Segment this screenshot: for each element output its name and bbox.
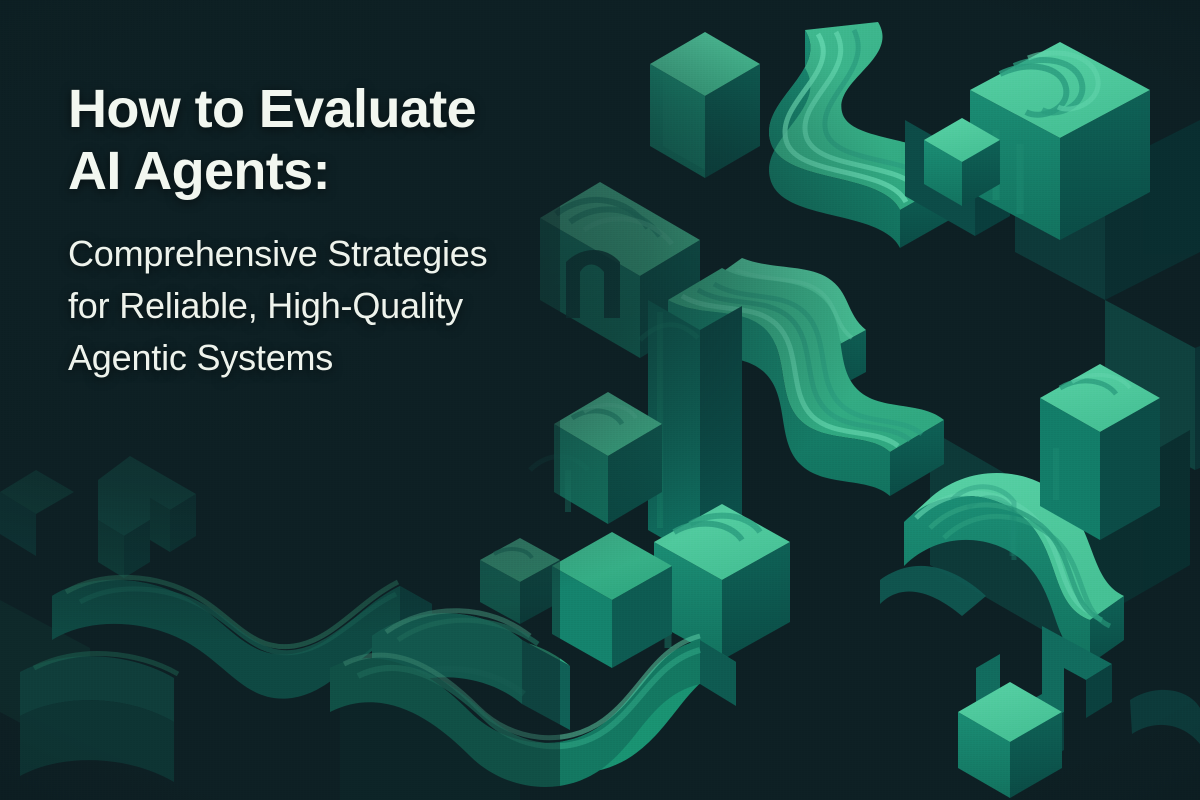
- hero-banner: How to Evaluate AI Agents: Comprehensive…: [0, 0, 1200, 800]
- page-title: How to Evaluate AI Agents:: [68, 78, 608, 202]
- title-line-2: AI Agents:: [68, 140, 608, 202]
- page-subtitle: Comprehensive Strategies for Reliable, H…: [68, 228, 608, 384]
- subtitle-line-1: Comprehensive Strategies: [68, 228, 608, 280]
- hero-text-layer: How to Evaluate AI Agents: Comprehensive…: [68, 78, 608, 384]
- subtitle-line-3: Agentic Systems: [68, 332, 608, 384]
- block-tower-right: [1040, 364, 1160, 540]
- title-line-1: How to Evaluate: [68, 78, 608, 140]
- subtitle-line-2: for Reliable, High-Quality: [68, 280, 608, 332]
